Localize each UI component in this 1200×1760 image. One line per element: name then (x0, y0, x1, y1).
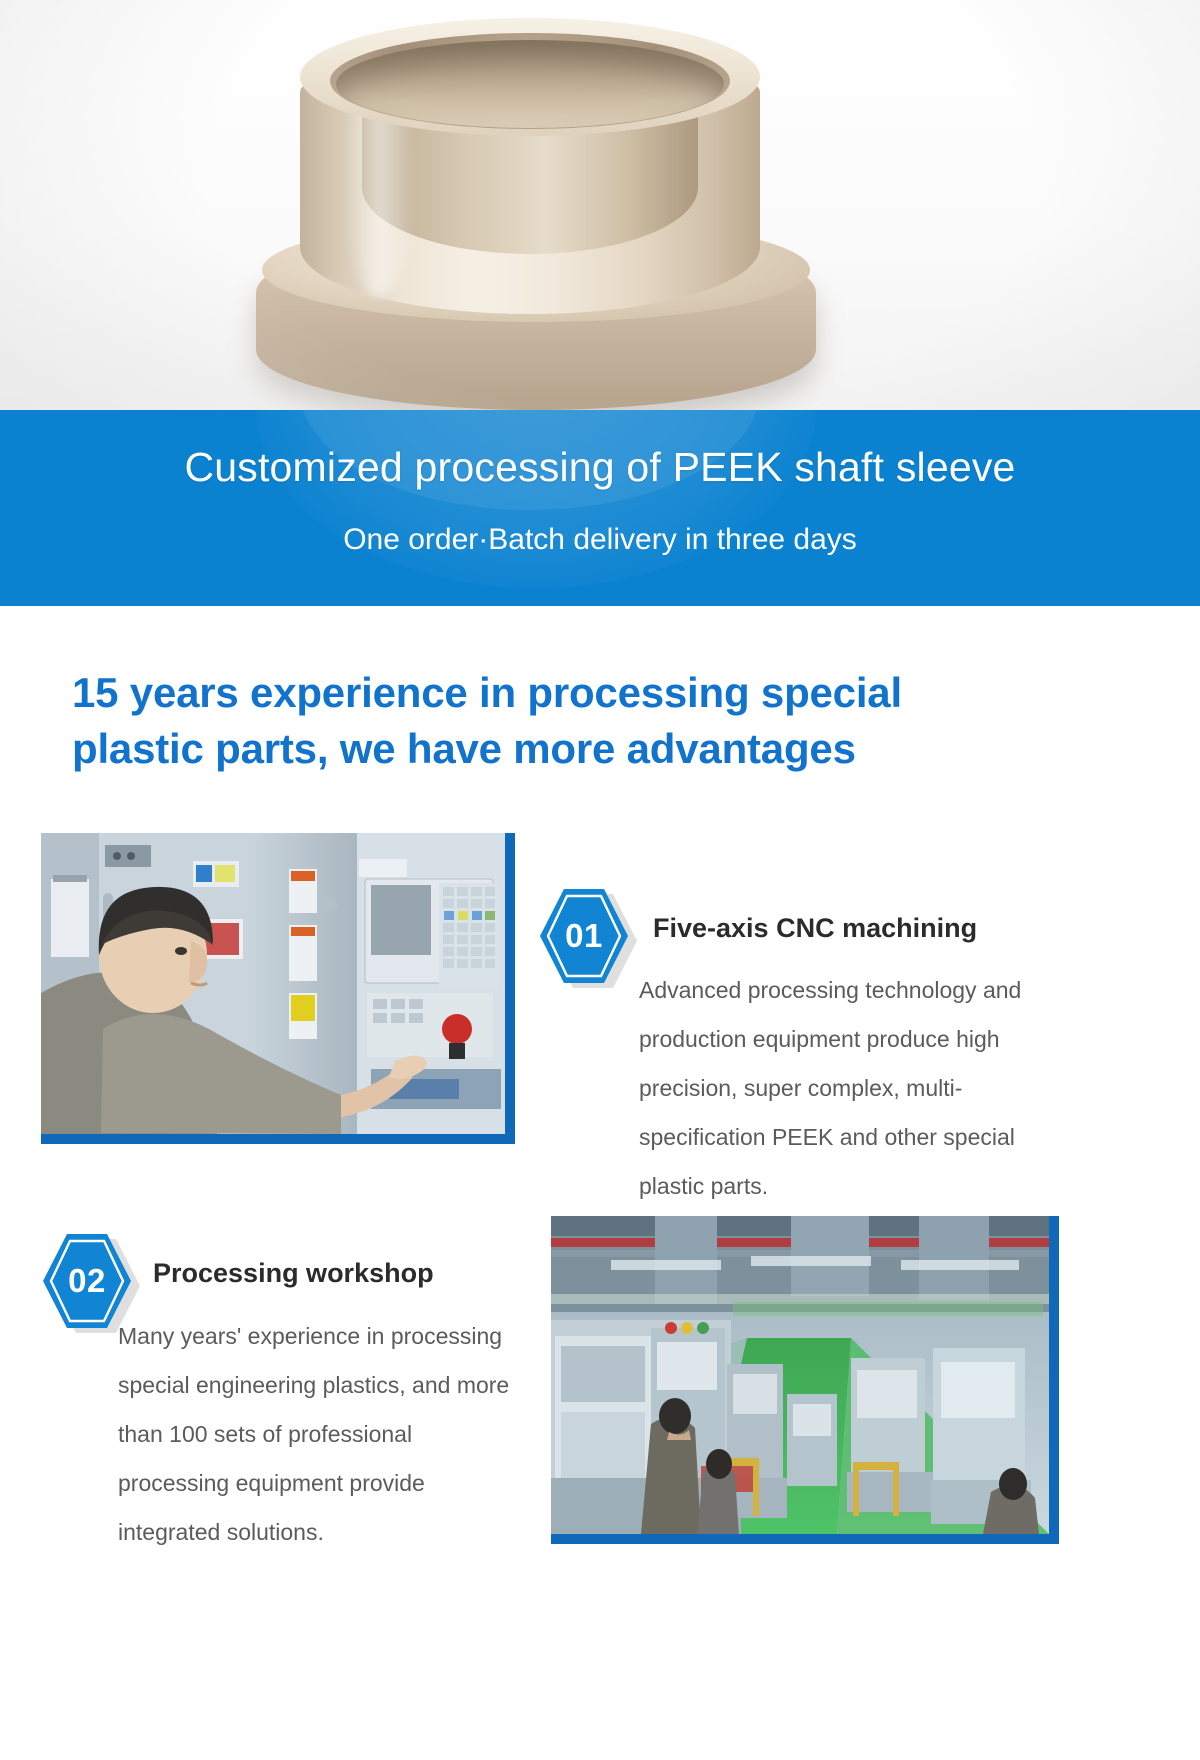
card-01-body: Advanced processing technology and produ… (639, 966, 1064, 1211)
card-02-body: Many years' experience in processing spe… (118, 1312, 518, 1557)
hero-banner: Customized processing of PEEK shaft slee… (0, 410, 1200, 606)
card-01-title: Five-axis CNC machining (653, 913, 977, 944)
card-02-title: Processing workshop (153, 1258, 434, 1289)
card-02-photo (551, 1216, 1059, 1544)
banner-subtitle: One order·Batch delivery in three days (0, 523, 1200, 557)
hero-product-image (0, 0, 1200, 412)
section-heading-line1: 15 years experience in processing specia… (72, 665, 1062, 721)
hero-vignette (0, 0, 1200, 412)
card-01-photo (41, 833, 515, 1144)
card-01-badge-number: 01 (537, 884, 631, 988)
cnc-operator-illustration (41, 833, 505, 1134)
workshop-illustration (551, 1216, 1049, 1534)
section-heading-line2: plastic parts, we have more advantages (72, 721, 1062, 777)
card-01-badge: 01 (537, 884, 631, 988)
product-detail-page: Customized processing of PEEK shaft slee… (0, 0, 1200, 1760)
section-heading: 15 years experience in processing specia… (72, 665, 1062, 777)
banner-title: Customized processing of PEEK shaft slee… (0, 444, 1200, 491)
